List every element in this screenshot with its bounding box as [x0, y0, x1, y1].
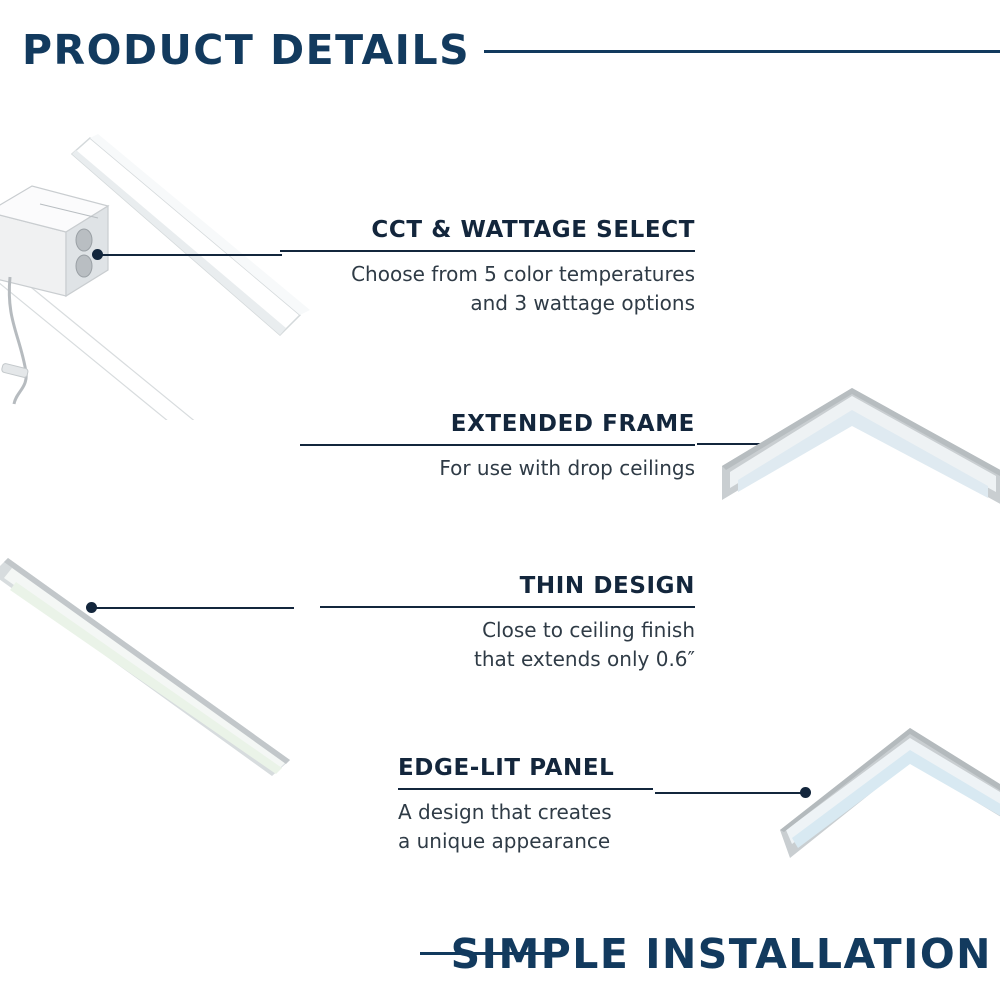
callout-body-cct-wattage-select: Choose from 5 color temperatures and 3 w… [280, 260, 695, 318]
callout-body-extended-frame: For use with drop ceilings [300, 454, 695, 483]
thin-design-art [0, 548, 300, 778]
callout-edge-lit-panel: EDGE-LIT PANEL A design that creates a u… [398, 756, 728, 856]
callout-underline-cct-wattage-select [280, 250, 695, 252]
callout-extended-frame: EXTENDED FRAME For use with drop ceiling… [300, 412, 695, 483]
header-divider-line [484, 50, 1000, 53]
page-header: PRODUCT DETAILS [0, 0, 1000, 100]
callout-title-extended-frame: EXTENDED FRAME [300, 412, 695, 437]
callout-underline-thin-design [320, 606, 695, 608]
page-title: PRODUCT DETAILS [22, 26, 470, 74]
edge-lit-art [730, 718, 1000, 878]
leader-line-cct-wattage-select [98, 254, 282, 256]
callout-thin-design: THIN DESIGN Close to ceiling finish that… [320, 574, 695, 674]
footer-title: SIMPLE INSTALLATION [451, 930, 992, 978]
callout-title-cct-wattage-select: CCT & WATTAGE SELECT [280, 218, 695, 243]
extended-frame-art [712, 380, 1000, 530]
leader-dot-cct-wattage-select [92, 249, 103, 260]
callout-body-thin-design: Close to ceiling finish that extends onl… [320, 616, 695, 674]
callout-body-edge-lit-panel: A design that creates a unique appearanc… [398, 798, 728, 856]
callout-title-thin-design: THIN DESIGN [320, 574, 695, 599]
callout-underline-extended-frame [300, 444, 695, 446]
callout-title-edge-lit-panel: EDGE-LIT PANEL [398, 756, 728, 781]
callout-underline-edge-lit-panel [398, 788, 653, 790]
callout-cct-wattage-select: CCT & WATTAGE SELECT Choose from 5 color… [280, 218, 695, 318]
